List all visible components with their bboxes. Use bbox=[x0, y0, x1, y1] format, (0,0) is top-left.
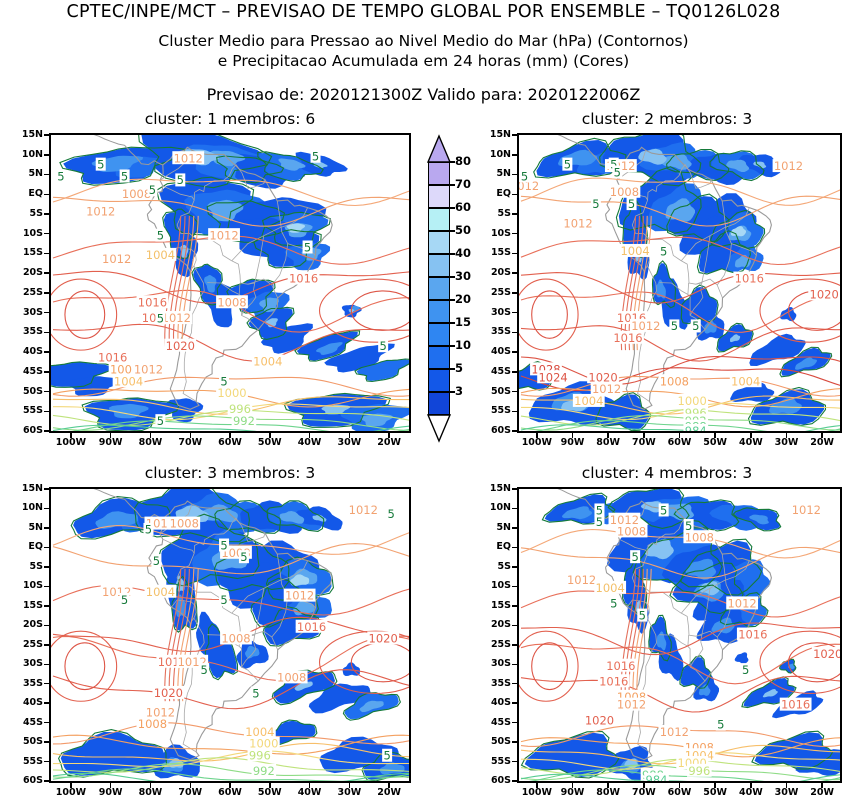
y-axis-tick bbox=[512, 134, 517, 136]
precip-contour-label: 5 bbox=[659, 244, 669, 258]
mslp-contour-label: 1012 bbox=[208, 228, 240, 242]
y-axis-label: 5S bbox=[473, 209, 511, 219]
y-axis-label: 5N bbox=[473, 523, 511, 533]
mslp-contour bbox=[65, 643, 105, 690]
svg-text:5: 5 bbox=[639, 608, 646, 622]
svg-text:5: 5 bbox=[240, 550, 247, 564]
svg-text:5: 5 bbox=[387, 507, 394, 521]
y-axis-tick bbox=[512, 174, 517, 176]
y-axis-label: 30S bbox=[473, 308, 511, 318]
mslp-contour-label: 1016 bbox=[612, 331, 644, 345]
y-axis-tick bbox=[44, 741, 49, 743]
svg-text:1012: 1012 bbox=[174, 151, 203, 165]
mslp-contour-label: 1012 bbox=[284, 589, 316, 603]
mslp-contour-label: 984 bbox=[683, 424, 708, 433]
x-axis-label: 100W bbox=[49, 438, 93, 448]
panel-caption-cluster-2: cluster: 2 membros: 3 bbox=[492, 110, 842, 128]
precip-contour-label: 5 bbox=[251, 686, 261, 700]
mslp-contour-label: 1004 bbox=[252, 354, 284, 368]
mslp-contour-label: 1012 bbox=[726, 596, 758, 610]
y-axis-tick bbox=[512, 194, 517, 196]
svg-text:1004: 1004 bbox=[574, 394, 603, 408]
y-axis-label: 5N bbox=[5, 523, 43, 533]
panel-caption-cluster-3: cluster: 3 membros: 3 bbox=[49, 464, 411, 482]
colorbar-tick-label: 5 bbox=[455, 363, 463, 375]
svg-text:984: 984 bbox=[646, 773, 668, 783]
svg-text:5: 5 bbox=[660, 244, 667, 258]
x-axis-label: 20W bbox=[367, 438, 411, 448]
mslp-contour-label: 1008 bbox=[220, 631, 252, 645]
y-axis-label: 55S bbox=[473, 757, 511, 767]
y-axis-tick bbox=[44, 761, 49, 763]
x-axis-label: 80W bbox=[128, 438, 172, 448]
map-panel-cluster-2[interactable]: 1012101210081012101210041016102010161012… bbox=[517, 133, 842, 433]
colorbar-tick-label: 15 bbox=[455, 317, 471, 329]
y-axis-tick bbox=[44, 233, 49, 235]
svg-text:1008: 1008 bbox=[122, 187, 151, 201]
precip-contour-label: 5 bbox=[669, 319, 679, 333]
precip-contour-label: 5 bbox=[147, 183, 157, 197]
y-axis-tick bbox=[512, 411, 517, 413]
svg-text:5: 5 bbox=[592, 197, 599, 211]
svg-text:5: 5 bbox=[220, 593, 227, 607]
y-axis-tick bbox=[44, 702, 49, 704]
y-axis-label: 45S bbox=[473, 367, 511, 377]
colorbar-tick-label: 20 bbox=[455, 294, 471, 306]
mslp-contour-label: 1008 bbox=[658, 374, 690, 388]
y-axis-label: 55S bbox=[5, 406, 43, 416]
y-axis-label: 35S bbox=[473, 327, 511, 337]
colorbar-over-arrow bbox=[428, 136, 450, 162]
y-axis-tick bbox=[44, 253, 49, 255]
country-border bbox=[242, 667, 259, 681]
svg-text:996: 996 bbox=[688, 764, 710, 778]
x-axis-label: 50W bbox=[248, 438, 292, 448]
y-axis-label: 45S bbox=[5, 367, 43, 377]
precip-contour-label: 5 bbox=[120, 593, 130, 607]
mslp-contour-label: 1016 bbox=[737, 628, 769, 642]
colorbar-band bbox=[428, 185, 450, 208]
precip-contour-label: 5 bbox=[716, 717, 726, 731]
forecast-validity-line: Previsao de: 2020121300Z Valido para: 20… bbox=[0, 85, 847, 104]
mslp-contour-label: 1016 bbox=[598, 674, 630, 688]
svg-text:1012: 1012 bbox=[617, 698, 646, 712]
svg-text:5: 5 bbox=[157, 228, 164, 242]
mslp-contour-label: 1004 bbox=[730, 374, 762, 388]
colorbar-band bbox=[428, 277, 450, 300]
svg-text:992: 992 bbox=[253, 764, 275, 778]
y-axis-tick bbox=[512, 605, 517, 607]
colorbar-band bbox=[428, 162, 450, 185]
svg-text:1016: 1016 bbox=[289, 272, 318, 286]
y-axis-label: 20S bbox=[5, 268, 43, 278]
subtitle-line-2: e Precipitacao Acumulada em 24 horas (mm… bbox=[0, 52, 847, 70]
y-axis-tick bbox=[512, 702, 517, 704]
svg-text:5: 5 bbox=[717, 717, 724, 731]
precip-contour-label: 5 bbox=[239, 550, 249, 564]
svg-text:984: 984 bbox=[685, 424, 707, 433]
y-axis-label: 20S bbox=[5, 620, 43, 630]
svg-text:1020: 1020 bbox=[813, 647, 842, 661]
y-axis-label: 15N bbox=[5, 130, 43, 140]
y-axis-tick bbox=[44, 547, 49, 549]
precip-contour-label: 5 bbox=[175, 173, 185, 187]
precip-contour-label: 5 bbox=[96, 157, 106, 171]
panel-caption-cluster-4: cluster: 4 membros: 3 bbox=[492, 464, 842, 482]
mslp-contour-label: 996 bbox=[687, 764, 712, 778]
y-axis-tick bbox=[512, 780, 517, 782]
mslp-contour-label: 1012 bbox=[616, 698, 648, 712]
svg-text:1024: 1024 bbox=[538, 370, 567, 384]
x-axis-label: 60W bbox=[208, 788, 252, 798]
mslp-contour-label: 1008 bbox=[616, 524, 648, 538]
svg-text:1008: 1008 bbox=[221, 632, 250, 646]
precip-contour-label: 5 bbox=[594, 515, 604, 529]
y-axis-label: 15N bbox=[473, 130, 511, 140]
colorbar-tick-label: 10 bbox=[455, 340, 471, 352]
svg-text:1012: 1012 bbox=[209, 228, 238, 242]
y-axis-tick bbox=[512, 371, 517, 373]
mslp-contour-label: 1012 bbox=[172, 151, 204, 165]
y-axis-tick bbox=[44, 292, 49, 294]
svg-text:1012: 1012 bbox=[563, 216, 592, 230]
precip-contour-label: 5 bbox=[120, 169, 130, 183]
y-axis-label: 40S bbox=[5, 698, 43, 708]
svg-text:1016: 1016 bbox=[781, 698, 810, 712]
precip-contour-label: 5 bbox=[630, 550, 640, 564]
x-axis-label: 40W bbox=[288, 438, 332, 448]
mslp-contour bbox=[53, 773, 411, 783]
precip-contour-label: 5 bbox=[199, 663, 209, 677]
mslp-contour-label: 1012 bbox=[85, 204, 117, 218]
map-panel-cluster-3[interactable]: 1012101210081008101210041012101610201016… bbox=[49, 487, 411, 783]
mslp-contour-label: 1012 bbox=[566, 573, 598, 587]
mslp-contour bbox=[51, 631, 117, 701]
mslp-contour-label: 1004 bbox=[113, 374, 145, 388]
colorbar-under-arrow bbox=[428, 415, 450, 441]
y-axis-label: 25S bbox=[5, 288, 43, 298]
x-axis-label: 50W bbox=[248, 788, 292, 798]
subtitle-line-1: Cluster Medio para Pressao ao Nivel Medi… bbox=[0, 32, 847, 50]
colorbar-band bbox=[428, 254, 450, 277]
y-axis-tick bbox=[512, 761, 517, 763]
svg-text:1012: 1012 bbox=[285, 589, 314, 603]
y-axis-tick bbox=[44, 371, 49, 373]
svg-text:1012: 1012 bbox=[567, 573, 596, 587]
colorbar-tick-label: 3 bbox=[455, 386, 463, 398]
colorbar-tick-label: 70 bbox=[455, 179, 471, 191]
svg-text:5: 5 bbox=[660, 503, 667, 517]
y-axis-label: 25S bbox=[5, 640, 43, 650]
y-axis-tick bbox=[44, 174, 49, 176]
y-axis-tick bbox=[512, 722, 517, 724]
precip-contour-label: 5 bbox=[591, 197, 601, 211]
mslp-contour bbox=[519, 279, 578, 350]
y-axis-tick bbox=[512, 527, 517, 529]
y-axis-label: EQ bbox=[473, 542, 511, 552]
colorbar-tick-label: 50 bbox=[455, 225, 471, 237]
precip-contour-label: 5 bbox=[151, 554, 161, 568]
mslp-contour-label: 992 bbox=[252, 764, 277, 778]
country-border bbox=[688, 283, 689, 295]
mslp-contour bbox=[320, 279, 411, 342]
colorbar-tick-label: 60 bbox=[455, 202, 471, 214]
svg-text:5: 5 bbox=[157, 311, 164, 325]
svg-text:1004: 1004 bbox=[253, 355, 282, 369]
precip-contour-label: 5 bbox=[219, 593, 229, 607]
mslp-contour-label: 992 bbox=[232, 414, 257, 428]
mslp-contour-label: 1008 bbox=[216, 295, 248, 309]
precip-contour-label: 5 bbox=[155, 228, 165, 242]
mslp-contour bbox=[532, 643, 568, 690]
svg-text:1004: 1004 bbox=[146, 248, 175, 262]
svg-text:5: 5 bbox=[671, 319, 678, 333]
svg-text:5: 5 bbox=[596, 515, 603, 529]
precip-contour-label: 5 bbox=[311, 150, 321, 164]
mslp-contour-label: 1012 bbox=[773, 159, 805, 173]
svg-text:5: 5 bbox=[312, 150, 319, 164]
svg-text:5: 5 bbox=[220, 374, 227, 388]
y-axis-label: EQ bbox=[5, 189, 43, 199]
y-axis-label: 60S bbox=[473, 426, 511, 436]
precip-contour-label: 5 bbox=[741, 663, 751, 677]
svg-text:5: 5 bbox=[252, 686, 259, 700]
y-axis-label: 30S bbox=[5, 659, 43, 669]
mslp-contour-label: 1012 bbox=[347, 503, 379, 517]
y-axis-label: 45S bbox=[473, 718, 511, 728]
mslp-contour-label: 1020 bbox=[812, 647, 842, 661]
y-axis-label: 5S bbox=[473, 562, 511, 572]
mslp-contour-label: 1012 bbox=[790, 503, 822, 517]
y-axis-tick bbox=[512, 391, 517, 393]
svg-text:1020: 1020 bbox=[369, 632, 398, 646]
page-title: CPTEC/INPE/MCT – PREVISAO DE TEMPO GLOBA… bbox=[0, 2, 847, 22]
svg-text:5: 5 bbox=[149, 183, 156, 197]
y-axis-tick bbox=[44, 272, 49, 274]
y-axis-label: 25S bbox=[473, 288, 511, 298]
precip-contour-label: 5 bbox=[378, 339, 388, 353]
svg-text:1004: 1004 bbox=[146, 585, 175, 599]
y-axis-tick bbox=[512, 547, 517, 549]
y-axis-label: EQ bbox=[5, 542, 43, 552]
y-axis-label: 10S bbox=[5, 229, 43, 239]
svg-text:5: 5 bbox=[200, 663, 207, 677]
svg-text:1012: 1012 bbox=[792, 503, 821, 517]
svg-text:5: 5 bbox=[631, 550, 638, 564]
mslp-contour bbox=[51, 279, 117, 350]
x-axis-label: 80W bbox=[128, 788, 172, 798]
svg-text:5: 5 bbox=[57, 169, 64, 183]
mslp-contour-label: 1016 bbox=[296, 620, 328, 634]
y-axis-label: 5N bbox=[5, 169, 43, 179]
y-axis-tick bbox=[44, 683, 49, 685]
y-axis-tick bbox=[512, 154, 517, 156]
mslp-contour-label: 1012 bbox=[658, 725, 690, 739]
precip-contour-label: 5 bbox=[382, 749, 392, 763]
svg-text:1012: 1012 bbox=[102, 252, 131, 266]
mslp-contour-label: 1004 bbox=[594, 581, 626, 595]
y-axis-label: 10S bbox=[5, 581, 43, 591]
mslp-contour-label: 1016 bbox=[605, 659, 637, 673]
svg-text:1012: 1012 bbox=[660, 725, 689, 739]
colorbar-tick-label: 40 bbox=[455, 248, 471, 260]
y-axis-label: 15S bbox=[5, 248, 43, 258]
svg-text:1016: 1016 bbox=[613, 331, 642, 345]
svg-text:5: 5 bbox=[521, 169, 528, 183]
country-border bbox=[688, 635, 689, 646]
map-frame: 1012100810121012101210041016101610161012… bbox=[49, 133, 411, 433]
svg-text:1004: 1004 bbox=[620, 244, 649, 258]
y-axis-tick bbox=[512, 664, 517, 666]
precip-contour-label: 5 bbox=[56, 169, 66, 183]
y-axis-tick bbox=[44, 722, 49, 724]
precip-contour-label: 5 bbox=[637, 608, 647, 622]
y-axis-tick bbox=[512, 683, 517, 685]
y-axis-tick bbox=[512, 586, 517, 588]
y-axis-label: 5S bbox=[5, 209, 43, 219]
x-axis-label: 70W bbox=[168, 438, 212, 448]
y-axis-tick bbox=[44, 391, 49, 393]
y-axis-label: 10S bbox=[473, 229, 511, 239]
y-axis-tick bbox=[512, 566, 517, 568]
y-axis-label: 5N bbox=[473, 169, 511, 179]
precip-contour-label: 5 bbox=[303, 240, 313, 254]
precip-contour-label: 5 bbox=[143, 523, 153, 537]
svg-text:5: 5 bbox=[614, 165, 621, 179]
y-axis-tick bbox=[44, 488, 49, 490]
y-axis-tick bbox=[44, 213, 49, 215]
precip-contour-label: 5 bbox=[386, 507, 396, 521]
colorbar-band bbox=[428, 369, 450, 392]
y-axis-tick bbox=[512, 253, 517, 255]
svg-text:1012: 1012 bbox=[86, 205, 115, 219]
mslp-contour bbox=[351, 643, 411, 682]
svg-text:5: 5 bbox=[610, 597, 617, 611]
y-axis-label: 50S bbox=[5, 737, 43, 747]
colorbar-band bbox=[428, 392, 450, 415]
precip-contour-label: 5 bbox=[612, 165, 622, 179]
y-axis-label: 35S bbox=[5, 327, 43, 337]
svg-text:1004: 1004 bbox=[731, 374, 760, 388]
y-axis-label: 15S bbox=[473, 248, 511, 258]
y-axis-tick bbox=[44, 625, 49, 627]
svg-text:5: 5 bbox=[564, 157, 571, 171]
y-axis-tick bbox=[512, 741, 517, 743]
svg-text:1008: 1008 bbox=[277, 670, 306, 684]
mslp-contour-label: 1016 bbox=[733, 272, 765, 286]
mslp-contour-label: 1020 bbox=[808, 287, 840, 301]
svg-text:1020: 1020 bbox=[166, 339, 195, 353]
svg-text:1008: 1008 bbox=[660, 374, 689, 388]
colorbar-band bbox=[428, 208, 450, 231]
svg-text:1012: 1012 bbox=[774, 159, 803, 173]
svg-text:5: 5 bbox=[177, 173, 184, 187]
svg-text:1008: 1008 bbox=[217, 295, 246, 309]
svg-text:5: 5 bbox=[121, 593, 128, 607]
y-axis-label: 50S bbox=[473, 387, 511, 397]
mslp-contour-label: 1020 bbox=[164, 339, 196, 353]
y-axis-tick bbox=[512, 213, 517, 215]
svg-text:5: 5 bbox=[304, 240, 311, 254]
colorbar-band bbox=[428, 323, 450, 346]
y-axis-tick bbox=[44, 134, 49, 136]
x-axis-label: 90W bbox=[89, 788, 133, 798]
y-axis-tick bbox=[44, 586, 49, 588]
precip-contour-label: 5 bbox=[520, 169, 530, 183]
svg-text:1012: 1012 bbox=[727, 597, 756, 611]
mslp-contour-label: 996 bbox=[248, 748, 273, 762]
svg-text:5: 5 bbox=[685, 519, 692, 533]
svg-text:5: 5 bbox=[145, 523, 152, 537]
svg-text:1016: 1016 bbox=[297, 620, 326, 634]
y-axis-label: 60S bbox=[5, 776, 43, 786]
svg-text:996: 996 bbox=[249, 748, 271, 762]
x-axis-label: 20W bbox=[800, 788, 844, 798]
y-axis-label: EQ bbox=[473, 189, 511, 199]
y-axis-label: 10S bbox=[473, 581, 511, 591]
svg-text:1020: 1020 bbox=[810, 287, 839, 301]
y-axis-tick bbox=[44, 194, 49, 196]
y-axis-label: 40S bbox=[473, 698, 511, 708]
precip-contour-label: 5 bbox=[684, 519, 694, 533]
y-axis-label: 15S bbox=[5, 601, 43, 611]
svg-text:5: 5 bbox=[628, 197, 635, 211]
mslp-contour-label: 1020 bbox=[367, 631, 399, 645]
y-axis-label: 15S bbox=[473, 601, 511, 611]
y-axis-tick bbox=[44, 411, 49, 413]
y-axis-tick bbox=[512, 332, 517, 334]
svg-text:1012: 1012 bbox=[349, 503, 378, 517]
y-axis-label: 20S bbox=[473, 620, 511, 630]
y-axis-tick bbox=[512, 430, 517, 432]
mslp-contour-label: 1008 bbox=[609, 185, 641, 199]
map-frame: 1012101210081012101210041016102010161012… bbox=[517, 133, 842, 433]
svg-text:1008: 1008 bbox=[170, 517, 199, 531]
mslp-contour-label: 1004 bbox=[573, 394, 605, 408]
x-axis-label: 40W bbox=[288, 788, 332, 798]
svg-text:5: 5 bbox=[153, 554, 160, 568]
mslp-contour-label: 1004 bbox=[145, 585, 177, 599]
y-axis-tick bbox=[44, 780, 49, 782]
mslp-contour bbox=[521, 623, 842, 655]
y-axis-label: 30S bbox=[473, 659, 511, 669]
map-frame: 1012101210081008101210041012101610201016… bbox=[517, 487, 842, 783]
precip-contour-label: 5 bbox=[219, 538, 229, 552]
precip-contour-label: 5 bbox=[691, 319, 701, 333]
precip-contour-label: 5 bbox=[627, 197, 637, 211]
y-axis-tick bbox=[44, 332, 49, 334]
y-axis-tick bbox=[44, 566, 49, 568]
y-axis-tick bbox=[512, 351, 517, 353]
map-panel-cluster-1[interactable]: 1012100810121012101210041016101610161012… bbox=[49, 133, 411, 433]
svg-text:1008: 1008 bbox=[138, 717, 167, 731]
y-axis-tick bbox=[44, 644, 49, 646]
mslp-contour-label: 1016 bbox=[137, 295, 169, 309]
y-axis-tick bbox=[44, 351, 49, 353]
y-axis-label: 45S bbox=[5, 718, 43, 728]
y-axis-tick bbox=[512, 272, 517, 274]
svg-text:992: 992 bbox=[233, 414, 255, 428]
svg-text:5: 5 bbox=[379, 339, 386, 353]
colorbar-band bbox=[428, 346, 450, 369]
y-axis-tick bbox=[44, 430, 49, 432]
precip-contour-label: 5 bbox=[155, 311, 165, 325]
mslp-contour-label: 1020 bbox=[152, 686, 184, 700]
x-axis-label: 30W bbox=[327, 438, 371, 448]
x-axis-label: 100W bbox=[49, 788, 93, 798]
map-panel-cluster-4[interactable]: 1012101210081008101210041012101610201016… bbox=[517, 487, 842, 783]
y-axis-label: 55S bbox=[473, 406, 511, 416]
